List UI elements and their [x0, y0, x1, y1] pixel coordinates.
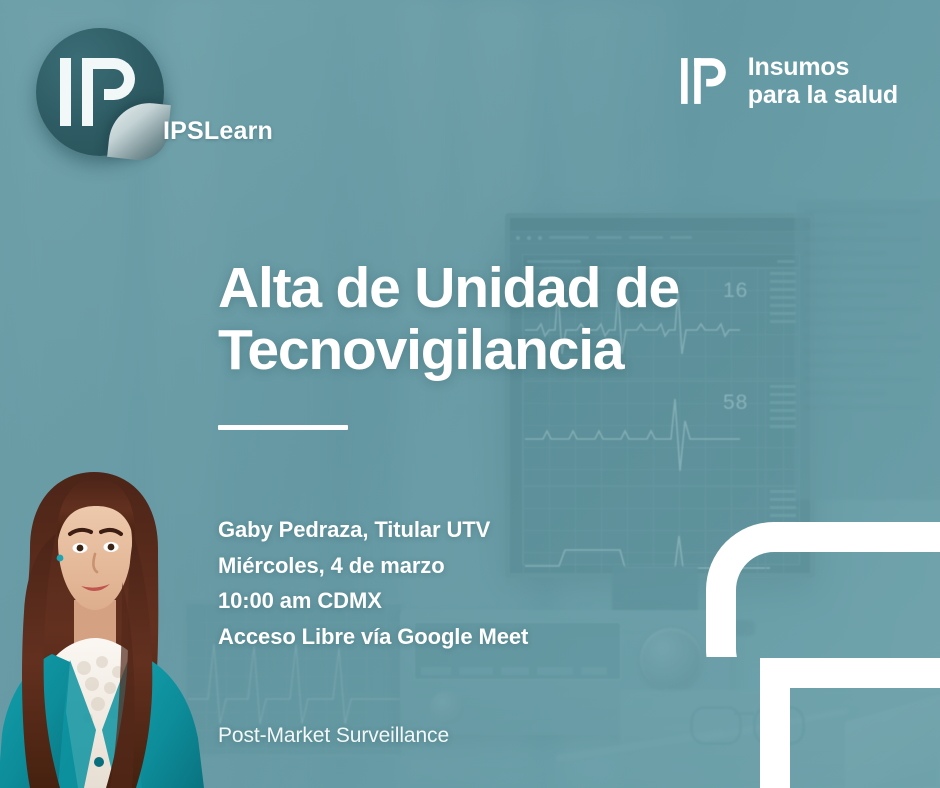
event-details: Gaby Pedraza, Titular UTV Miércoles, 4 d… — [218, 512, 528, 655]
brand-line-1: Insumos — [748, 53, 898, 82]
title-divider — [218, 425, 348, 430]
poster-canvas: blurred clinical workstation with patien… — [0, 0, 940, 788]
detail-time: 10:00 am CDMX — [218, 583, 528, 619]
ipslearn-wordmark: IPSLearn — [163, 117, 273, 146]
ip-monogram-icon — [680, 52, 728, 110]
footer-tagline: Post-Market Surveillance — [218, 724, 449, 748]
title-line-2: Tecnovigilancia — [218, 320, 778, 382]
page-title: Alta de Unidad de Tecnovigilancia — [218, 258, 778, 381]
detail-access: Acceso Libre vía Google Meet — [218, 619, 528, 655]
portrait-illustration — [0, 462, 224, 788]
insumos-brand-lockup: Insumos para la salud — [680, 52, 898, 110]
brand-line-2: para la salud — [748, 81, 898, 110]
detail-speaker: Gaby Pedraza, Titular UTV — [218, 512, 528, 548]
insumos-brand-text: Insumos para la salud — [748, 53, 898, 110]
presenter-portrait — [0, 462, 224, 788]
ips-sticker-logo — [36, 28, 164, 156]
blazer-button — [94, 757, 104, 767]
earring — [57, 555, 64, 562]
title-line-1: Alta de Unidad de — [218, 256, 679, 320]
detail-date: Miércoles, 4 de marzo — [218, 548, 528, 584]
